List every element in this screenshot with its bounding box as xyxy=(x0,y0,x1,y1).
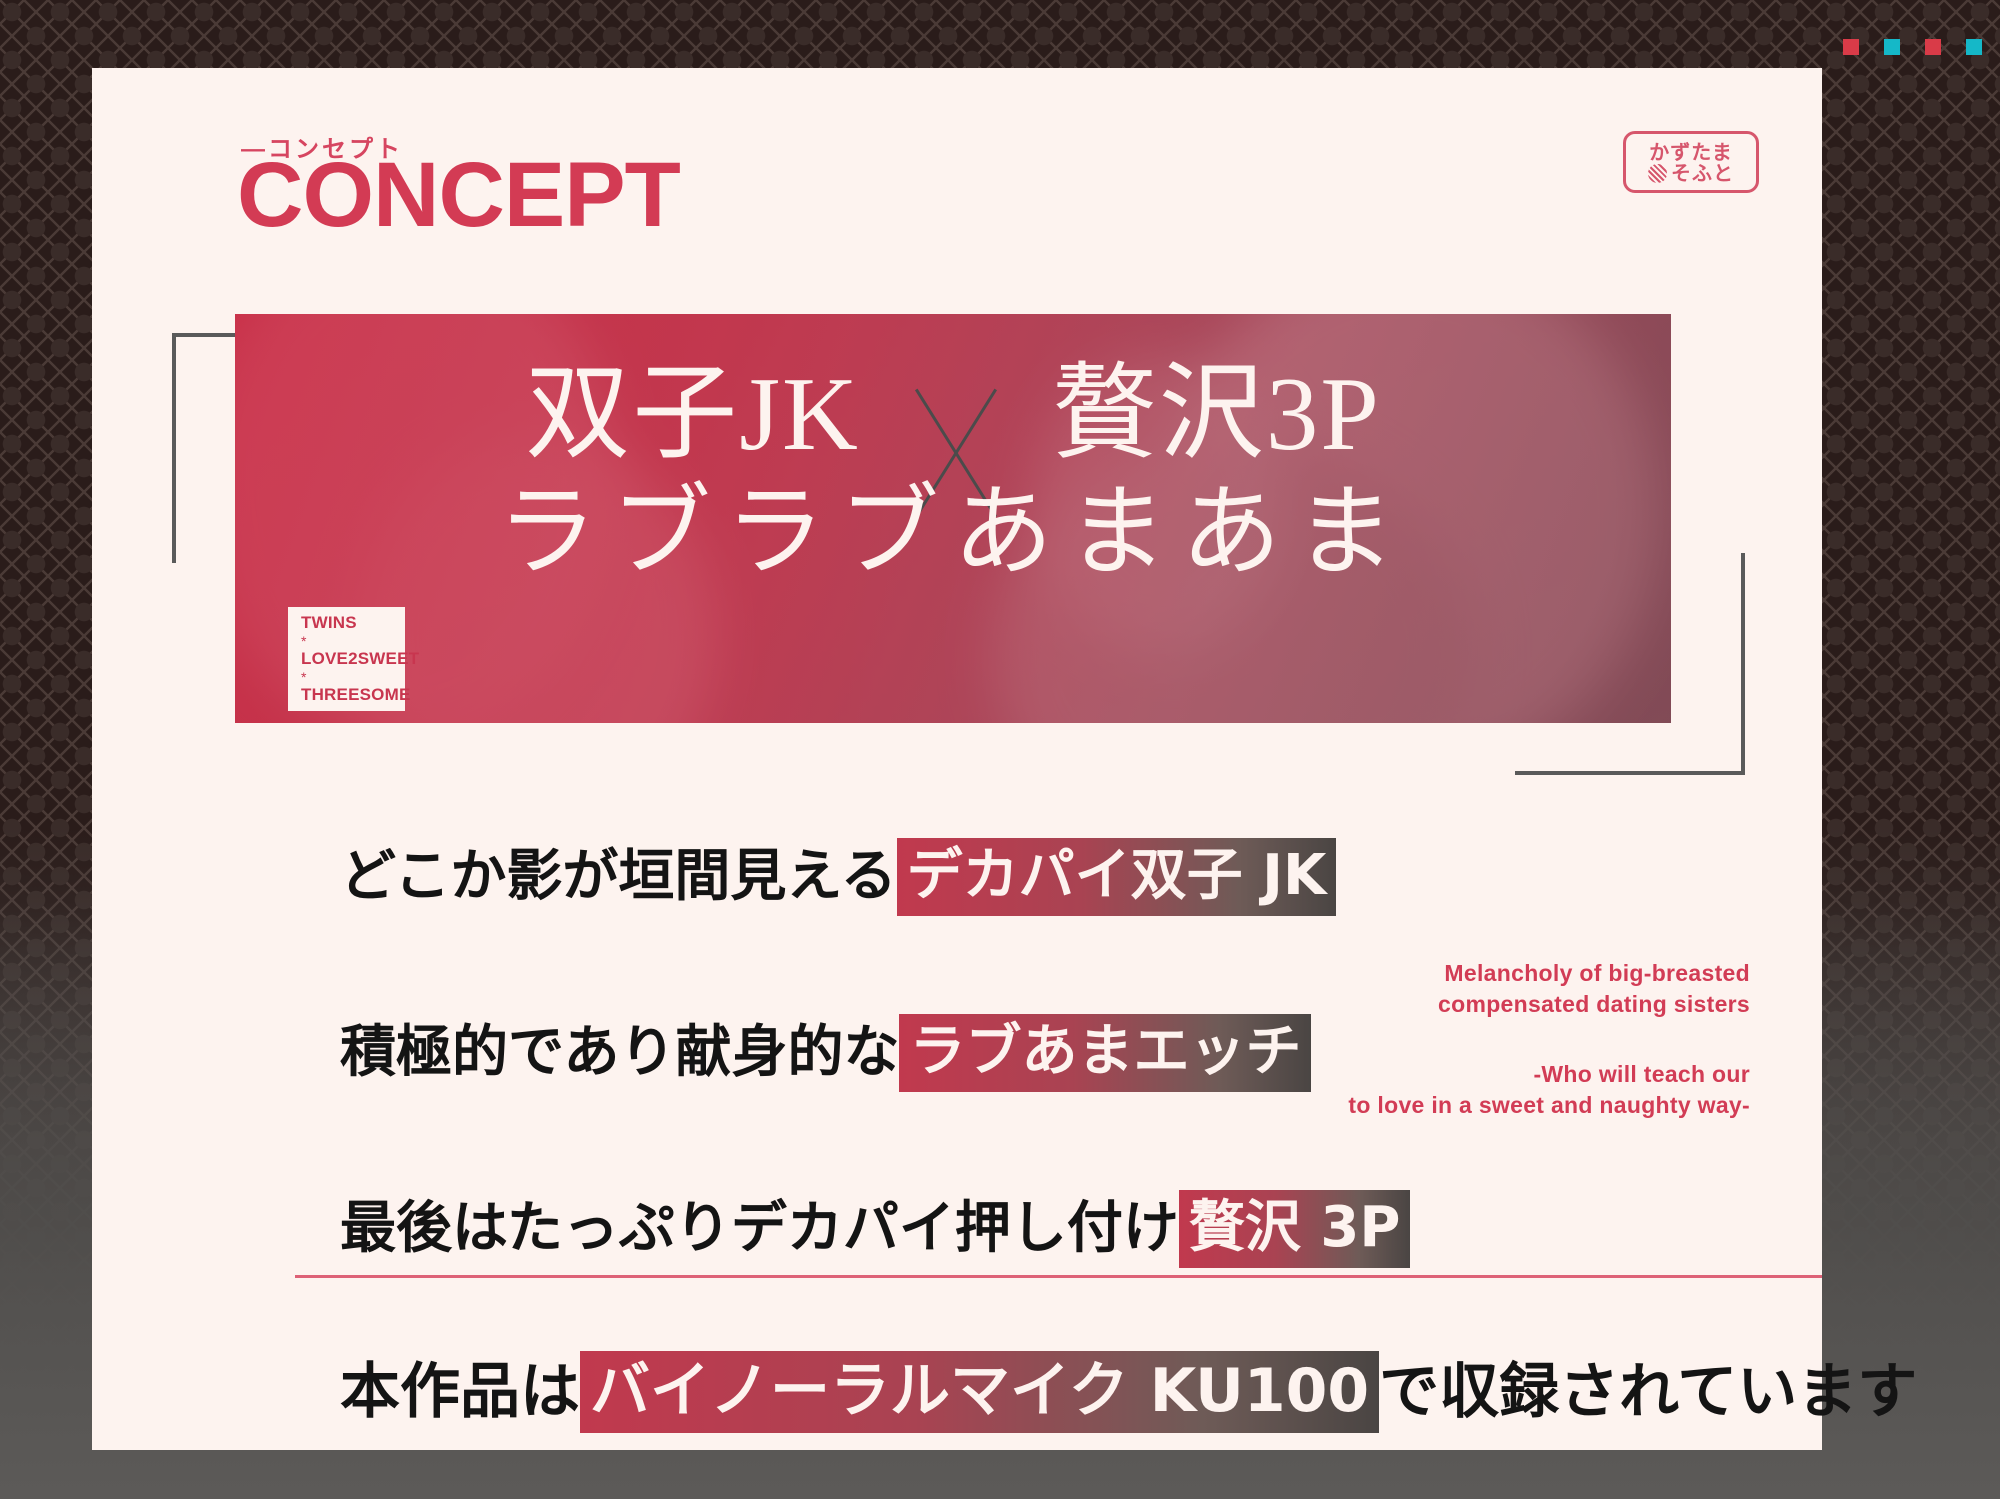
brand-logo-line2: そふと xyxy=(1671,164,1734,184)
english-caption: Melancholy of big-breasted compensated d… xyxy=(1348,958,1750,1120)
english-line-1: Melancholy of big-breasted xyxy=(1348,958,1750,989)
feature-1-highlight: デカパイ双子 JK xyxy=(897,838,1337,916)
hero-badge-line1: TWINS xyxy=(301,613,405,633)
brand-logo-line1: かずたま xyxy=(1649,143,1732,163)
dot-cyan-1 xyxy=(1884,39,1900,55)
feature-3-text: 最後はたっぷりデカパイ押し付け xyxy=(340,1201,1179,1257)
hero-badge-line2: LOVE2SWEET xyxy=(301,649,405,669)
footer-note: 本作品は バイノーラルマイク KU100 で収録されています xyxy=(340,1351,1917,1433)
brand-logo-line2-row: そふと xyxy=(1648,164,1734,184)
concept-card: ―コンセプト CONCEPT かずたま そふと xyxy=(92,68,1822,1450)
feature-1-text: どこか影が垣間見える xyxy=(340,849,897,905)
feature-list: どこか影が垣間見える デカパイ双子 JK 積極的であり献身的な ラブあまエッチ … xyxy=(340,838,1410,1268)
feature-row-3: 最後はたっぷりデカパイ押し付け 贅沢 3P xyxy=(340,1190,1410,1268)
footer-suffix: で収録されています xyxy=(1379,1362,1917,1422)
hero-badge: TWINS * LOVE2SWEET * THREESOME xyxy=(288,607,405,711)
hero-badge-sep2: * xyxy=(301,670,405,684)
page-title: CONCEPT xyxy=(237,149,680,241)
feature-3-highlight: 贅沢 3P xyxy=(1179,1190,1411,1268)
cross-icon xyxy=(860,358,1052,468)
hero-badge-line3: THREESOME xyxy=(301,685,405,705)
brand-logo: かずたま そふと xyxy=(1623,131,1759,193)
english-caption-spacer xyxy=(1348,1019,1750,1059)
hero-right-word: 贅沢3P xyxy=(1052,361,1381,466)
dot-cyan-2 xyxy=(1966,39,1982,55)
hero-badge-sep1: * xyxy=(301,634,405,648)
hero-left-word: 双子JK xyxy=(525,361,860,466)
feature-row-1: どこか影が垣間見える デカパイ双子 JK xyxy=(340,838,1410,916)
english-line-3: -Who will teach our xyxy=(1348,1059,1750,1090)
section-divider xyxy=(295,1275,1822,1278)
dot-red-1 xyxy=(1843,39,1859,55)
english-line-2: compensated dating sisters xyxy=(1348,989,1750,1020)
corner-decoration-dots xyxy=(1843,39,1982,55)
feature-row-2: 積極的であり献身的な ラブあまエッチ xyxy=(340,1014,1410,1092)
feature-2-text: 積極的であり献身的な xyxy=(340,1025,899,1081)
hero-banner: 双子JK 贅沢3P ラブラブあまあま TWINS * LOVE2SWEET * … xyxy=(235,314,1671,723)
hero-image-area: 双子JK 贅沢3P ラブラブあまあま xyxy=(235,314,1671,723)
footer-highlight: バイノーラルマイク KU100 xyxy=(580,1351,1379,1433)
feature-2-highlight: ラブあまエッチ xyxy=(899,1014,1311,1092)
hero-title-row: 双子JK 贅沢3P xyxy=(235,358,1671,468)
footer-prefix: 本作品は xyxy=(340,1362,580,1422)
striped-circle-icon xyxy=(1648,164,1667,183)
dot-red-2 xyxy=(1925,39,1941,55)
page-background: ―コンセプト CONCEPT かずたま そふと xyxy=(0,0,2000,1499)
english-line-4: to love in a sweet and naughty way- xyxy=(1348,1090,1750,1121)
hero-subtitle: ラブラブあまあま xyxy=(235,482,1671,582)
